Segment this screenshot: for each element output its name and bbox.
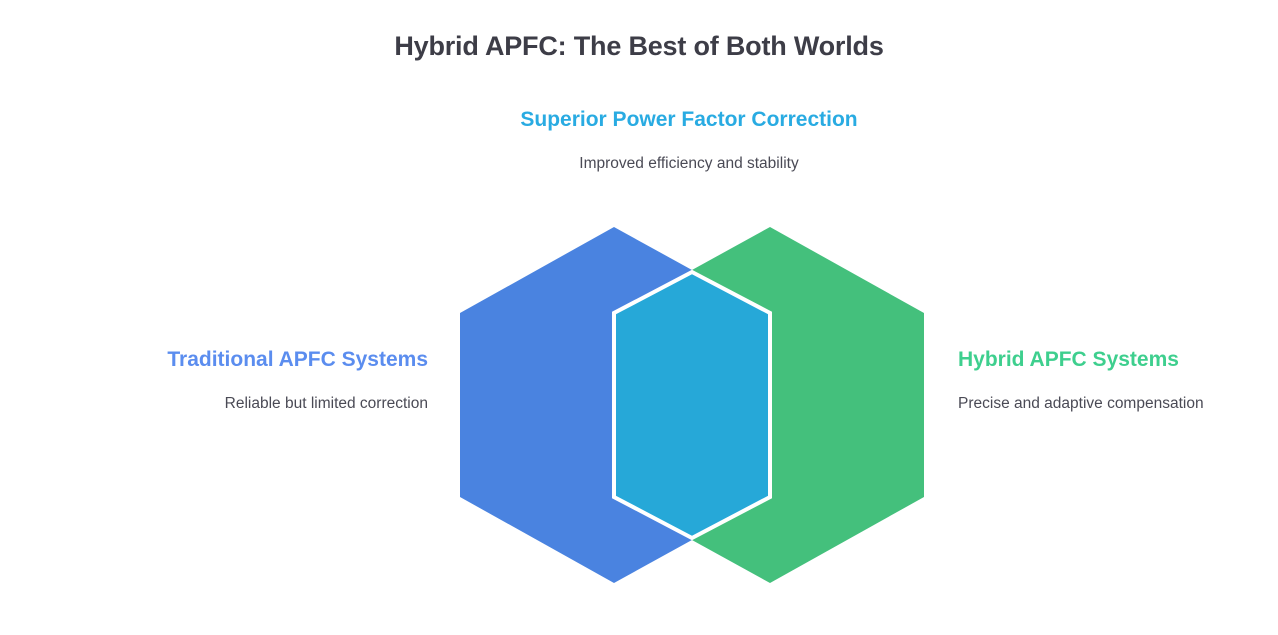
left-set-label-group: Traditional APFC Systems Reliable but li… bbox=[128, 344, 428, 415]
venn-diagram bbox=[440, 215, 945, 600]
right-set-label-group: Hybrid APFC Systems Precise and adaptive… bbox=[958, 344, 1258, 415]
venn-diagram-svg bbox=[440, 215, 945, 600]
intersection-description: Improved efficiency and stability bbox=[489, 153, 889, 175]
intersection-heading: Superior Power Factor Correction bbox=[489, 104, 889, 136]
intersection-hexagon[interactable] bbox=[614, 272, 770, 538]
left-set-description: Reliable but limited correction bbox=[128, 393, 428, 415]
left-set-heading: Traditional APFC Systems bbox=[128, 344, 428, 376]
page-title: Hybrid APFC: The Best of Both Worlds bbox=[0, 30, 1278, 62]
intersection-label-group: Superior Power Factor Correction Improve… bbox=[489, 104, 889, 175]
right-set-description: Precise and adaptive compensation bbox=[958, 393, 1258, 415]
right-set-heading: Hybrid APFC Systems bbox=[958, 344, 1258, 376]
